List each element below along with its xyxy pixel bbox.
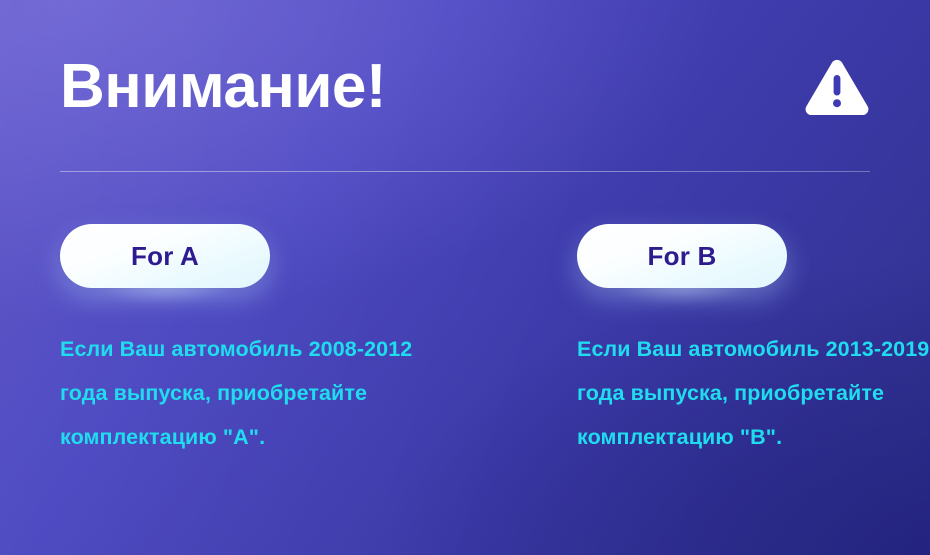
- for-b-button[interactable]: For B: [577, 224, 787, 288]
- option-columns: For A Если Ваш автомобиль 2008-2012 года…: [60, 224, 870, 288]
- option-column-a: For A Если Ваш автомобиль 2008-2012 года…: [60, 224, 353, 288]
- header-divider: [60, 171, 870, 172]
- for-b-button-label: For B: [648, 243, 717, 269]
- banner-header: Внимание!: [60, 48, 870, 140]
- for-a-button[interactable]: For A: [60, 224, 270, 288]
- page-title: Внимание!: [60, 48, 386, 126]
- warning-triangle-icon: [804, 58, 870, 120]
- option-column-b: For B Если Ваш автомобиль 2013-2019 года…: [577, 224, 870, 288]
- for-a-button-label: For A: [131, 243, 199, 269]
- for-a-button-wrap: For A: [60, 224, 270, 288]
- option-a-description: Если Ваш автомобиль 2008-2012 года выпус…: [60, 327, 460, 459]
- option-b-description: Если Ваш автомобиль 2013-2019 года выпус…: [577, 327, 930, 459]
- attention-banner: Внимание! For A Если Ваш автомобиль 2008…: [0, 0, 930, 555]
- for-b-button-wrap: For B: [577, 224, 787, 288]
